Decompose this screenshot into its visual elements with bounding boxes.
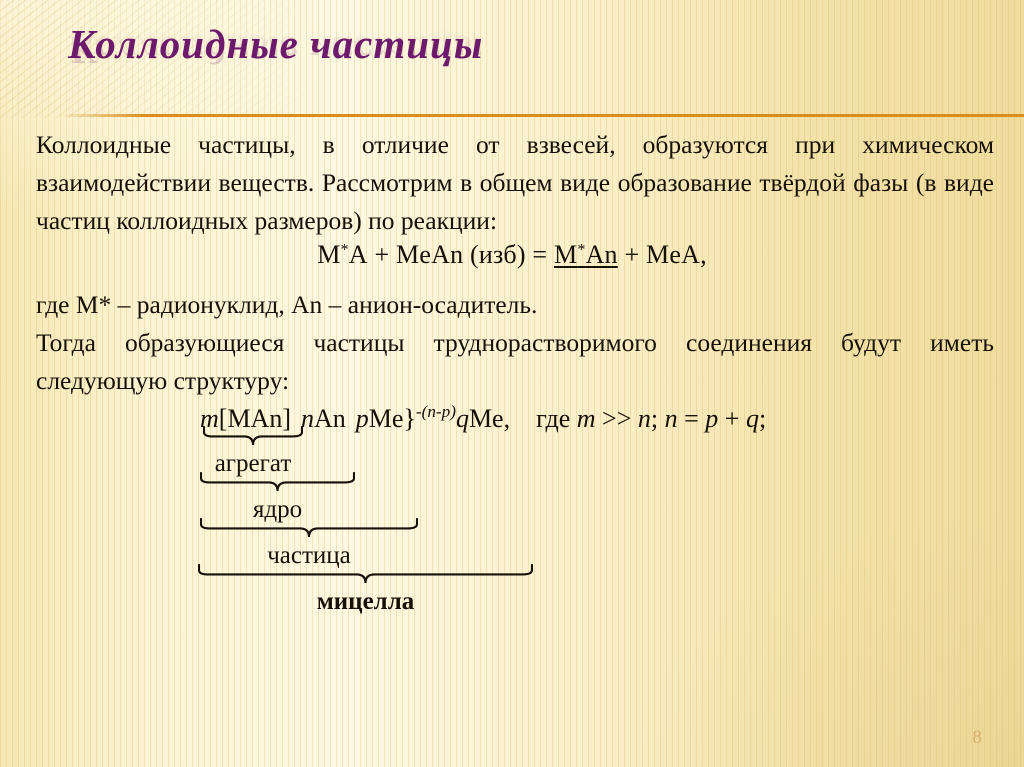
brace-label-3: мицелла (198, 588, 533, 616)
slide: Коллоидные частицы Коллоидные частицы Ко… (0, 0, 1024, 767)
body-paragraph-2-line-1: где М* – радионуклид, An – анион-осадите… (36, 286, 994, 324)
asterisk-icon: * (577, 242, 585, 259)
slide-title-block: Коллоидные частицы Коллоидные частицы (0, 20, 1024, 115)
chemical-equation: М*А + MeAn (изб) = М*An + MeA, (0, 240, 1024, 270)
underbrace-icon (200, 472, 355, 492)
underbrace-icon (203, 426, 303, 446)
title-divider-rule (58, 114, 1024, 117)
equation-product-1: М*An (554, 240, 618, 269)
asterisk-icon: * (341, 242, 349, 259)
page-title: Коллоидные частицы (68, 20, 483, 68)
underbrace-icon (200, 518, 418, 538)
underbrace-icon (198, 564, 533, 584)
body-paragraph-2-line-2: Тогда образующиеся частицы труднораствор… (36, 324, 994, 400)
formula-charge-superscript: -(n-p) (416, 402, 456, 421)
equation-product-2: MeA, (646, 240, 707, 269)
page-number: 8 (973, 727, 983, 749)
equation-equals: = (526, 240, 554, 269)
equation-reactant-1: М*А (317, 240, 368, 269)
body-paragraph-1-container: Коллоидные частицы, в отличие от взвесей… (36, 126, 994, 240)
equation-reactant-2: MeAn (изб) (396, 240, 526, 269)
equation-plus-1: + (368, 240, 396, 269)
equation-plus-2: + (618, 240, 646, 269)
micelle-structure-brace-diagram: агрегатядрочастицамицелла (0, 424, 1024, 624)
body-paragraph-1: Коллоидные частицы, в отличие от взвесей… (36, 126, 994, 240)
body-paragraph-2-container: где М* – радионуклид, An – анион-осадите… (36, 286, 994, 400)
